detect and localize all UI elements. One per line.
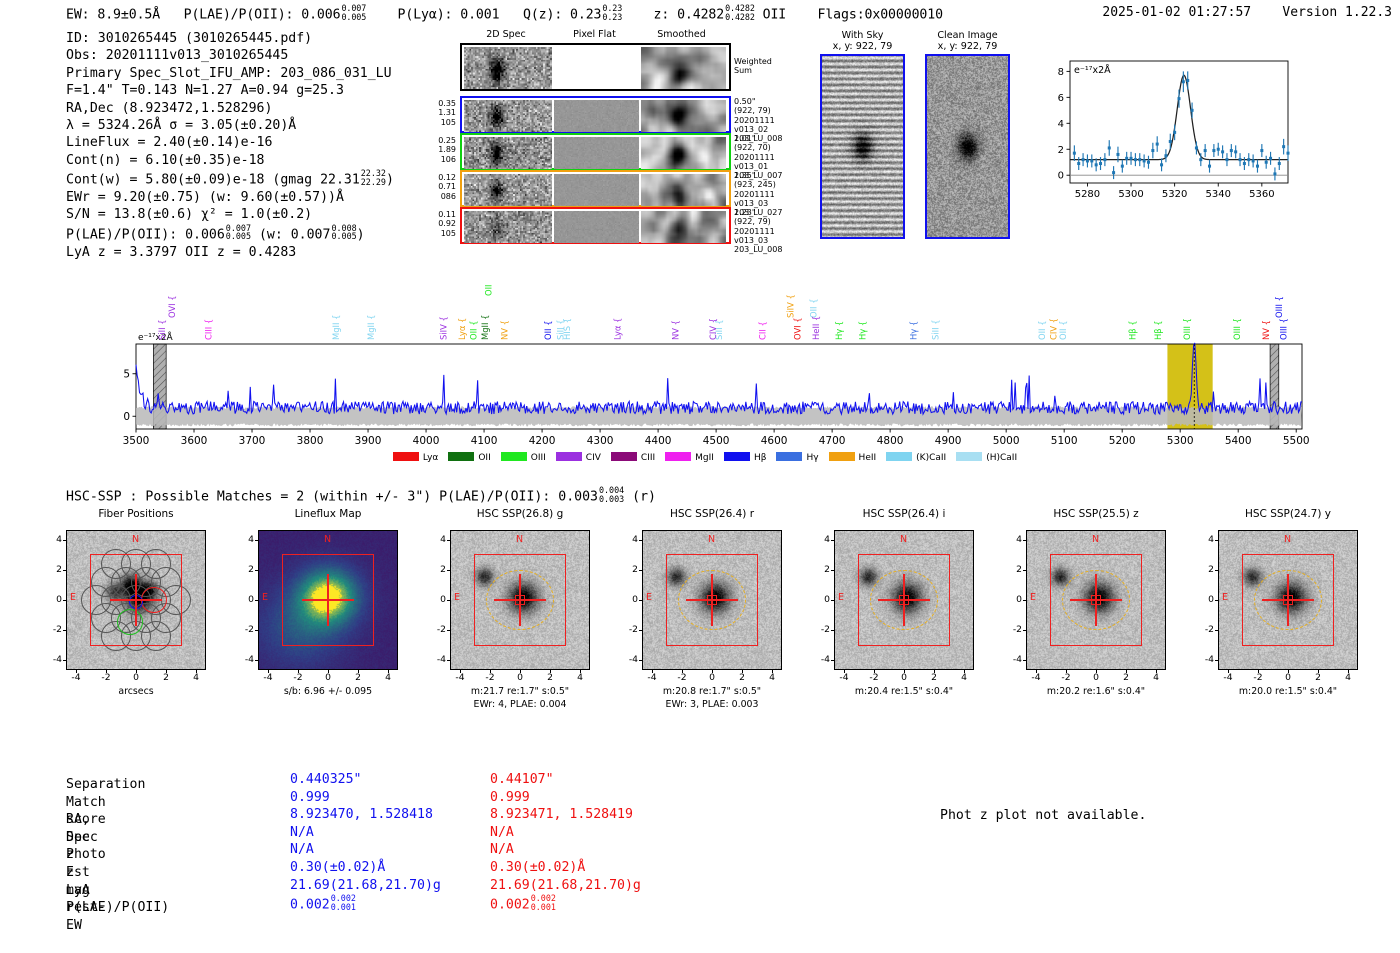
cutout-xtick: -2 xyxy=(481,672,499,683)
plae-errors: 0.0070.005 xyxy=(341,4,366,21)
line-mark: Lyα { xyxy=(457,318,467,340)
compass-north: N xyxy=(1284,534,1291,545)
cutout-ytick: -2 xyxy=(1004,624,1022,635)
cutout-ytick: -2 xyxy=(44,624,62,635)
cutout-xtick: 2 xyxy=(1309,672,1327,683)
cutout-ytick-mark xyxy=(639,630,642,631)
crosshair-vertical xyxy=(711,574,712,626)
cutout-ytick-mark xyxy=(255,540,258,541)
info-id: ID: 3010265445 (3010265445.pdf) xyxy=(66,30,394,47)
cutout-ytick-mark xyxy=(639,660,642,661)
spec2d-row xyxy=(460,207,731,244)
svg-text:8: 8 xyxy=(1058,67,1064,78)
compass-north: N xyxy=(900,534,907,545)
legend-swatch xyxy=(501,452,527,461)
cutout-xtick: 0 xyxy=(703,672,721,683)
weighted-sum-label-line1: Weighted xyxy=(734,57,794,66)
svg-text:OII {: OII { xyxy=(1037,320,1047,340)
compass-north: N xyxy=(132,534,139,545)
cutout-xtick-mark xyxy=(1348,670,1349,673)
cutout-ytick: -4 xyxy=(620,654,638,665)
cutout-ytick: -2 xyxy=(620,624,638,635)
full-spectrum-svg: 3500360037003800390040004100420043004400… xyxy=(100,282,1310,457)
legend-label: CIV xyxy=(586,453,601,463)
svg-text:NV {: NV { xyxy=(499,320,509,340)
cutout-xtick-mark xyxy=(106,670,107,673)
cutout-ytick: -2 xyxy=(812,624,830,635)
match-table-value: 0.999 xyxy=(490,789,530,807)
svg-text:5360: 5360 xyxy=(1249,189,1274,200)
cutout-title: HSC SSP(26.4) r xyxy=(642,508,782,520)
cutout-ytick: 4 xyxy=(812,534,830,545)
line-mark: CIII { xyxy=(204,319,214,340)
cutout-xtick-mark xyxy=(904,670,905,673)
info-wavelength: λ = 5324.26Å σ = 3.05(±0.20)Å xyxy=(66,117,394,134)
spec2d-row-2dspec xyxy=(464,174,552,206)
line-mark: SiIV { xyxy=(785,294,795,318)
full-spectrum-plot: 3500360037003800390040004100420043004400… xyxy=(100,282,1310,457)
cutout-ytick-mark xyxy=(1215,570,1218,571)
spec2d-row-metric: 0.11 xyxy=(420,210,456,219)
line-mark: OVI { xyxy=(792,317,802,340)
cutout-xtick-mark xyxy=(682,670,683,673)
spectrum-xtick: 3500 xyxy=(123,435,150,447)
sky-panel-title: With Sky xyxy=(820,30,905,41)
line-mark: Hγ { xyxy=(857,321,867,340)
svg-text:CIV {: CIV { xyxy=(708,318,718,340)
ew-value: 8.9±0.5Å xyxy=(97,7,160,22)
cutout-title: HSC SSP(24.7) y xyxy=(1218,508,1358,520)
spec2d-row-pixelflat xyxy=(554,137,639,169)
sky-image-panel xyxy=(820,54,905,239)
match-table-value: 0.44107" xyxy=(490,771,554,789)
cutout-xtick: -2 xyxy=(289,672,307,683)
svg-text:OVI {: OVI { xyxy=(167,295,177,318)
cutout-xtick-mark xyxy=(874,670,875,673)
cutout-xtick-mark xyxy=(1318,670,1319,673)
cutout-ytick-mark xyxy=(63,570,66,571)
svg-text:5300: 5300 xyxy=(1118,189,1143,200)
z-species: OII xyxy=(763,7,787,22)
svg-text:OIII {: OIII { xyxy=(1278,318,1288,340)
legend-swatch xyxy=(556,452,582,461)
spectrum-ytick: 0 xyxy=(123,411,130,423)
spec2d-row-metric: 0.71 xyxy=(420,182,456,191)
spec2d-row-metric: 0.92 xyxy=(420,219,456,228)
sky-panel-title-group: With Skyx, y: 922, 79 xyxy=(820,30,905,52)
svg-text:CII {: CII { xyxy=(758,321,768,340)
spectrum-xtick: 5400 xyxy=(1225,435,1252,447)
spec2d-row-2dspec xyxy=(464,211,552,243)
cutout-title: HSC SSP(26.8) g xyxy=(450,508,590,520)
cutout-xtick: 2 xyxy=(1117,672,1135,683)
svg-text:5280: 5280 xyxy=(1075,189,1100,200)
weighted-sum-label: WeightedSum xyxy=(734,57,794,76)
spectrum-xtick: 4600 xyxy=(761,435,788,447)
svg-text:4: 4 xyxy=(1058,119,1064,130)
cutout-ytick: 0 xyxy=(236,594,254,605)
line-mark: Lyα { xyxy=(612,318,622,340)
cutout-ytick: 2 xyxy=(236,564,254,575)
match-table-value: N/A xyxy=(490,824,514,842)
match-table-value: 0.0020.0020.001 xyxy=(490,894,556,914)
cutout-xtick: 4 xyxy=(379,672,397,683)
line-mark: OII { xyxy=(484,282,494,296)
compass-north: N xyxy=(324,534,331,545)
emission-line-zoom-svg: 5280530053205340536002468e⁻¹⁷x2Å xyxy=(1036,55,1294,205)
spec2d-row-caption-line: 1.23" xyxy=(734,208,796,217)
svg-text:OIII {: OIII { xyxy=(1274,296,1284,318)
cutout-xtick-mark xyxy=(1066,670,1067,673)
spectrum-xtick: 4500 xyxy=(703,435,730,447)
spec2d-row-metric: 105 xyxy=(420,118,456,127)
spec2d-row-caption-line: v013_01 xyxy=(734,162,796,171)
info-radec: RA,Dec (8.923472,1.528296) xyxy=(66,100,394,117)
svg-text:CIII {: CIII { xyxy=(204,319,214,340)
cutout-ytick-mark xyxy=(831,630,834,631)
svg-text:Hγ {: Hγ { xyxy=(834,321,844,340)
legend-swatch xyxy=(665,452,691,461)
cutout-xtick: 0 xyxy=(127,672,145,683)
svg-text:OIII {: OIII { xyxy=(1182,318,1192,340)
cutout-xtick: 2 xyxy=(157,672,175,683)
legend-label: OIII xyxy=(531,453,546,463)
sky-panel-title-group: Clean Imagex, y: 922, 79 xyxy=(925,30,1010,52)
spec2d-row-smoothed xyxy=(641,137,726,169)
spec2d-row-caption-line: 20201111 xyxy=(734,227,796,236)
spec2d-row-metric: 0.12 xyxy=(420,173,456,182)
cutout-title: HSC SSP(25.5) z xyxy=(1026,508,1166,520)
cutout-ytick: -4 xyxy=(236,654,254,665)
line-mark: NV { xyxy=(670,320,680,340)
match-table-value: 8.923471, 1.528419 xyxy=(490,806,633,824)
cutout-ytick-mark xyxy=(1215,540,1218,541)
svg-text:0: 0 xyxy=(1058,171,1064,182)
svg-text:OII {: OII { xyxy=(484,282,494,296)
match-table-value: 0.30(±0.02)Å xyxy=(290,859,385,877)
cutout-row: Fiber PositionsNE-4-2024420-2-4arcsecsLi… xyxy=(0,508,1400,733)
crosshair-vertical xyxy=(1095,574,1096,626)
spec2d-row-caption-line: 203_LU_008 xyxy=(734,245,796,254)
spectrum-xtick: 5300 xyxy=(1167,435,1194,447)
line-mark: NV { xyxy=(1261,320,1271,340)
cutout-xtick-mark xyxy=(520,670,521,673)
line-mark: HeII { xyxy=(811,316,821,340)
legend-label: Hγ xyxy=(806,453,818,463)
plae-value: 0.006 xyxy=(301,7,340,22)
cutout-ytick-mark xyxy=(1023,540,1026,541)
cutout-ytick: -4 xyxy=(428,654,446,665)
info-primary-spec: Primary Spec_Slot_IFU_AMP: 203_086_031_L… xyxy=(66,65,394,82)
cutout-ytick: 4 xyxy=(1196,534,1214,545)
cutout-xtick: -4 xyxy=(1027,672,1045,683)
weighted-sum-smoothed xyxy=(641,47,726,89)
cutout-ytick-mark xyxy=(63,660,66,661)
cutout-ytick-mark xyxy=(1215,660,1218,661)
line-mark: SiII { xyxy=(157,319,167,340)
spec2d-row-caption-line: 1.35" xyxy=(734,171,796,180)
spec2d-row-smoothed xyxy=(641,100,726,132)
cutout-ytick-mark xyxy=(447,600,450,601)
sky-image-panel xyxy=(925,54,1010,239)
spec2d-row-pixelflat xyxy=(554,174,639,206)
cutout-title: HSC SSP(26.4) i xyxy=(834,508,974,520)
cutout-xtick-mark xyxy=(742,670,743,673)
cutout-ytick-mark xyxy=(1023,600,1026,601)
cutout-xtick-mark xyxy=(358,670,359,673)
cutout-xtick-mark xyxy=(196,670,197,673)
compass-east: E xyxy=(838,592,844,603)
crosshair-vertical xyxy=(135,574,136,626)
match-table-value: 0.30(±0.02)Å xyxy=(490,859,585,877)
cutout-xtick: -2 xyxy=(673,672,691,683)
cutout-xtick: -4 xyxy=(451,672,469,683)
legend-label: (K)CaII xyxy=(916,453,946,463)
match-table-label: mag xyxy=(66,882,90,900)
cutout-xtick: -2 xyxy=(97,672,115,683)
spec2d-row-caption-line: (922, 70) xyxy=(734,143,796,152)
cutout-xtick-mark xyxy=(166,670,167,673)
cutout-xtick: 2 xyxy=(541,672,559,683)
info-snr: S/N = 13.8(±0.6) χ² = 1.0(±0.2) xyxy=(66,206,394,223)
cutout-xtick-mark xyxy=(1156,670,1157,673)
cutout-subcaption-1: m:20.0 re:1.5" s:0.4" xyxy=(1218,686,1358,697)
cutout-ytick-mark xyxy=(831,570,834,571)
legend-swatch xyxy=(776,452,802,461)
cutout-ytick-mark xyxy=(831,540,834,541)
spectrum-xtick: 5000 xyxy=(993,435,1020,447)
line-mark: Hγ { xyxy=(834,321,844,340)
svg-text:OII {: OII { xyxy=(469,320,479,340)
spec2d-row-caption-line: 20201111 xyxy=(734,153,796,162)
cutout-ytick-mark xyxy=(831,600,834,601)
spec2d-row-2dspec xyxy=(464,100,552,132)
svg-text:2: 2 xyxy=(1058,145,1064,156)
cutout-xtick: -2 xyxy=(865,672,883,683)
weighted-sum-2dspec xyxy=(464,47,552,89)
spec2d-row-metric: 105 xyxy=(420,229,456,238)
spectrum-legend: LyαOIIOIIICIVCIIIMgIIHβHγHeII(K)CaII(H)C… xyxy=(0,452,1400,463)
info-lineflux: LineFlux = 2.40(±0.14)e-16 xyxy=(66,134,394,151)
cutout-xtick-mark xyxy=(1258,670,1259,673)
cutout-ytick: -4 xyxy=(1196,654,1214,665)
spec2d-row xyxy=(460,170,731,207)
legend-label: OII xyxy=(478,453,490,463)
svg-text:Hβ {: Hβ { xyxy=(1128,320,1138,340)
cutout-ytick: 0 xyxy=(44,594,62,605)
cutout-ytick-mark xyxy=(639,600,642,601)
timestamp-version: 2025-01-02 01:27:57 Version 1.22.3 xyxy=(1102,5,1392,20)
spec2d-row-metric: 0.25 xyxy=(420,136,456,145)
line-mark: Hβ { xyxy=(1153,320,1163,340)
spec2d-row-caption-line: (922, 79) xyxy=(734,106,796,115)
cutout-subcaption-2: EWr: 3, PLAE: 0.003 xyxy=(642,699,782,710)
compass-east: E xyxy=(262,592,268,603)
svg-text:MgII {: MgII { xyxy=(331,315,341,340)
cutout-ytick-mark xyxy=(447,660,450,661)
spec2d-row-metrics: 0.110.92105 xyxy=(420,210,456,238)
compass-east: E xyxy=(70,592,76,603)
sky-panel-coords: x, y: 922, 79 xyxy=(925,41,1010,52)
cutout-subcaption-1: m:20.2 re:1.6" s:0.4" xyxy=(1026,686,1166,697)
svg-text:Hγ {: Hγ { xyxy=(857,321,867,340)
cutout-ytick-mark xyxy=(831,660,834,661)
svg-text:MgII {: MgII { xyxy=(480,315,490,340)
cutout-ytick-mark xyxy=(1215,600,1218,601)
cutout-ytick-mark xyxy=(447,630,450,631)
spec2d-col-title-0: 2D Spec xyxy=(462,29,550,40)
cutout-xtick-mark xyxy=(136,670,137,673)
cutout-xtick-mark xyxy=(268,670,269,673)
svg-text:OII {: OII { xyxy=(809,298,819,318)
cutout-xtick-mark xyxy=(388,670,389,673)
spectrum-xtick: 4800 xyxy=(877,435,904,447)
cutout-ytick: 4 xyxy=(44,534,62,545)
cutout-xtick-mark xyxy=(298,670,299,673)
qz-label: Q(z): xyxy=(523,7,562,22)
spectrum-units: e⁻¹⁷x2Å xyxy=(138,331,174,343)
line-mark: MgII { xyxy=(366,315,376,340)
info-cont-n: Cont(n) = 6.10(±0.35)e-18 xyxy=(66,152,394,169)
cutout-xtick-mark xyxy=(1096,670,1097,673)
svg-text:OII {: OII { xyxy=(543,320,553,340)
spec2d-row-pixelflat xyxy=(554,100,639,132)
noise-envelope xyxy=(136,406,1302,426)
line-mark: SiII { xyxy=(930,319,940,340)
cutout-xtick: -4 xyxy=(643,672,661,683)
cutout-subcaption-2: EWr: 4, PLAE: 0.004 xyxy=(450,699,590,710)
match-table-value: N/A xyxy=(290,824,314,842)
cutout-ytick: 4 xyxy=(1004,534,1022,545)
cutout-xtick-mark xyxy=(1288,670,1289,673)
weighted-sum-label-line2: Sum xyxy=(734,66,794,75)
spectrum-xtick: 5100 xyxy=(1051,435,1078,447)
compass-east: E xyxy=(646,592,652,603)
legend-label: HeII xyxy=(859,453,877,463)
compass-east: E xyxy=(454,592,460,603)
cutout-title: Fiber Positions xyxy=(66,508,206,520)
spec2d-row-caption-line: (922, 79) xyxy=(734,217,796,226)
compass-east: E xyxy=(1222,592,1228,603)
cutout-xtick-mark xyxy=(712,670,713,673)
info-plae: P(LAE)/P(OII): 0.0060.0070.005 (w: 0.007… xyxy=(66,224,394,244)
cutout-ytick: 0 xyxy=(428,594,446,605)
crosshair-vertical xyxy=(1287,574,1288,626)
svg-text:NV {: NV { xyxy=(1261,320,1271,340)
svg-text:HIS {: HIS { xyxy=(562,318,572,340)
spec2d-row-metric: 1.31 xyxy=(420,108,456,117)
compass-east: E xyxy=(1030,592,1036,603)
spec2d-row-metric: 106 xyxy=(420,155,456,164)
match-table-value: 21.69(21.68,21.70)g xyxy=(290,877,441,895)
spec2d-col-title-1: Pixel Flat xyxy=(552,29,637,40)
cutout-xtick-mark xyxy=(772,670,773,673)
crosshair-vertical xyxy=(327,574,328,626)
line-mark: OII { xyxy=(1037,320,1047,340)
cutout-ytick-mark xyxy=(255,660,258,661)
spec2d-row-caption-line: (923, 245) xyxy=(734,180,796,189)
object-info-block: ID: 3010265445 (3010265445.pdf) Obs: 202… xyxy=(66,30,394,261)
spectrum-xtick: 4700 xyxy=(819,435,846,447)
cutout-xtick: -4 xyxy=(259,672,277,683)
plya-label: P(Lyα): xyxy=(398,7,453,22)
cutout-subcaption-1: m:20.8 re:1.7" s:0.5" xyxy=(642,686,782,697)
cutout-ytick-mark xyxy=(255,630,258,631)
line-mark: OIII { xyxy=(1278,318,1288,340)
cutout-subcaption-1: m:20.4 re:1.5" s:0.4" xyxy=(834,686,974,697)
sky-panel-coords: x, y: 922, 79 xyxy=(820,41,905,52)
flux-units-annotation: e⁻¹⁷x2Å xyxy=(1074,64,1111,76)
flags-label: Flags:0x00000010 xyxy=(818,7,943,22)
sky-image-canvas xyxy=(927,56,1008,237)
line-mark: NV { xyxy=(499,320,509,340)
info-obs: Obs: 20201111v013_3010265445 xyxy=(66,47,394,64)
cutout-ytick: 2 xyxy=(428,564,446,575)
spec2d-row-pixelflat xyxy=(554,211,639,243)
spec2d-col-title-2: Smoothed xyxy=(639,29,724,40)
legend-label: MgII xyxy=(695,453,714,463)
spec2d-row-caption: 1.23"(922, 79)20201111v013_03203_LU_008 xyxy=(734,208,796,254)
hscssp-header-tail: (r) xyxy=(632,489,656,504)
cutout-title: Lineflux Map xyxy=(258,508,398,520)
cutout-xtick: 0 xyxy=(1087,672,1105,683)
legend-label: (H)CaII xyxy=(986,453,1017,463)
legend-swatch xyxy=(829,452,855,461)
cutout-subcaption-1: m:21.7 re:1.7" s:0.5" xyxy=(450,686,590,697)
spec2d-row-caption-line: 20201111 xyxy=(734,116,796,125)
legend-swatch xyxy=(393,452,419,461)
sky-panel-title: Clean Image xyxy=(925,30,1010,41)
cutout-xtick-mark xyxy=(550,670,551,673)
match-table-value: 0.440325" xyxy=(290,771,361,789)
cutout-ytick-mark xyxy=(255,600,258,601)
cutout-ytick: 4 xyxy=(428,534,446,545)
spec2d-row-metric: 1.89 xyxy=(420,145,456,154)
compass-north: N xyxy=(516,534,523,545)
legend-label: Lyα xyxy=(423,453,438,463)
spec2d-row-metrics: 0.120.71086 xyxy=(420,173,456,201)
spec2d-row-caption-line: v013_03 xyxy=(734,199,796,208)
cutout-ytick: -4 xyxy=(44,654,62,665)
cutout-xtick: 4 xyxy=(187,672,205,683)
cutout-ytick: -2 xyxy=(1196,624,1214,635)
info-cont-w: Cont(w) = 5.80(±0.09)e-18 (gmag 22.3122.… xyxy=(66,169,394,189)
cutout-ytick: 2 xyxy=(44,564,62,575)
svg-text:5320: 5320 xyxy=(1162,189,1187,200)
match-table-value: 0.0020.0020.001 xyxy=(290,894,356,914)
cutout-subcaption-1: s/b: 6.96 +/- 0.095 xyxy=(258,686,398,697)
spectrum-ytick: 5 xyxy=(123,368,130,380)
legend-swatch xyxy=(724,452,750,461)
cutout-xtick: -4 xyxy=(835,672,853,683)
cutout-xtick: 4 xyxy=(571,672,589,683)
cutout-ytick-mark xyxy=(639,540,642,541)
cutout-ytick: 0 xyxy=(1196,594,1214,605)
cutout-xtick: -2 xyxy=(1249,672,1267,683)
spectrum-xtick: 4200 xyxy=(529,435,556,447)
spec2d-row-metric: 086 xyxy=(420,192,456,201)
cutout-ytick-mark xyxy=(447,540,450,541)
qz-errors: 0.230.23 xyxy=(602,4,622,21)
cutout-ytick: 0 xyxy=(620,594,638,605)
spec2d-row xyxy=(460,133,731,170)
cutout-xtick: 2 xyxy=(733,672,751,683)
match-table-value: N/A xyxy=(490,841,514,859)
cutout-ytick-mark xyxy=(1023,570,1026,571)
match-table-label: P(LAE)/P(OII) xyxy=(66,899,169,917)
line-mark: MgII { xyxy=(331,315,341,340)
cutout-xtick: 4 xyxy=(1147,672,1165,683)
